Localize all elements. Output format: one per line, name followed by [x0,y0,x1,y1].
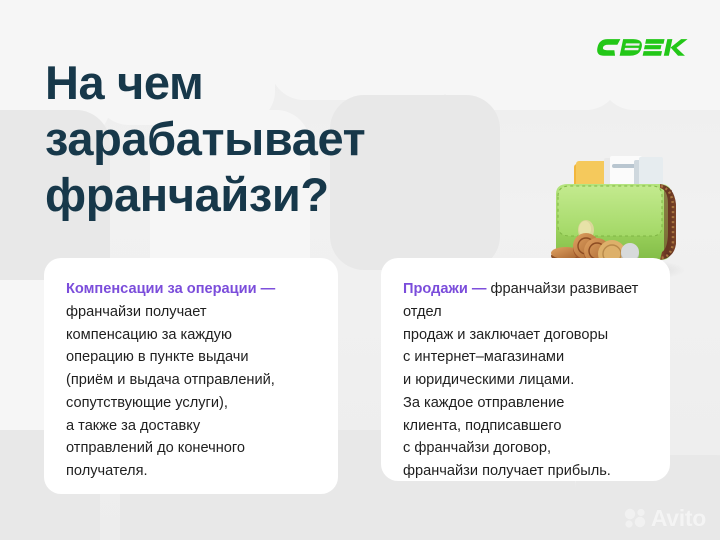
card-body-sales: франчайзи развивает отдел продаж и заклю… [403,281,638,479]
card-paragraph: Продажи — франчайзи развивает отдел прод… [403,278,648,483]
avito-watermark: Avito [624,504,706,532]
cdek-logo [596,32,688,62]
page-title: На чем зарабатывает франчайзи? [45,55,585,223]
card-paragraph: Компенсации за операции — франчайзи полу… [66,278,316,483]
card-lead-compensation: Компенсации за операции — [66,281,275,297]
card-lead-sales: Продажи — [403,281,486,297]
info-card-compensation: Компенсации за операции — франчайзи полу… [44,258,338,494]
slide-canvas: На чем зарабатывает франчайзи? [0,0,720,540]
avito-wordmark: Avito [651,507,706,530]
card-body-compensation: франчайзи получает компенсацию за каждую… [66,304,275,479]
avito-dots-icon [624,508,646,528]
info-card-sales: Продажи — франчайзи развивает отдел прод… [381,258,670,481]
